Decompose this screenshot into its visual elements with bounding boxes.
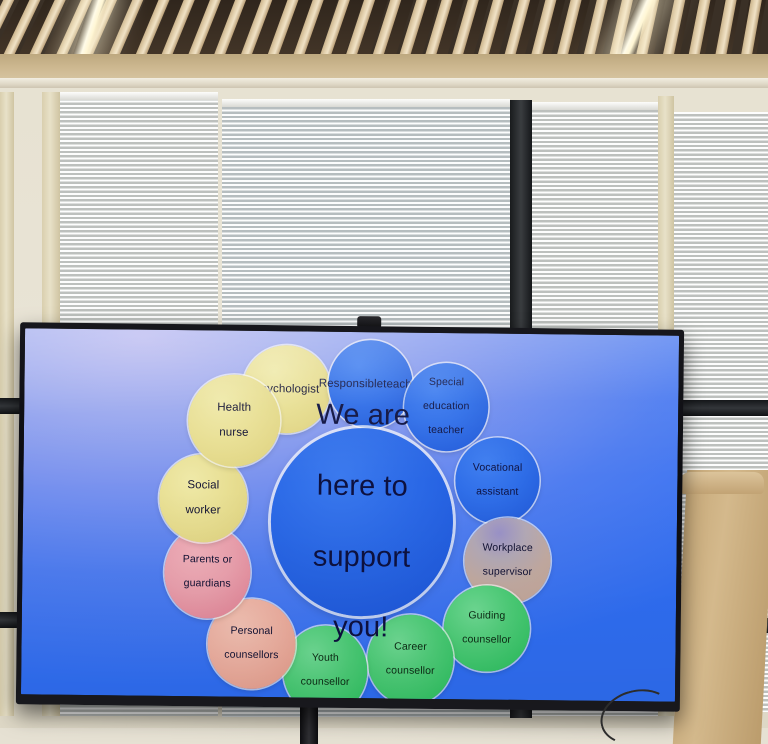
blind-headrail-right (532, 102, 662, 110)
bubble-label-line1: Workplace (482, 543, 532, 555)
bubble-guiding-counsellor[interactable]: Guiding counsellor (443, 585, 530, 672)
blind-headrail-left (58, 92, 218, 100)
bubble-label-line2: counsellor (301, 676, 350, 688)
bubble-label-line1: Parents or (183, 554, 233, 566)
bubble-label-line1: Health (217, 401, 251, 414)
center-line-4: you! (312, 610, 410, 646)
blind-headrail-center (222, 99, 510, 107)
bubble-label-line1: Personal (225, 626, 279, 638)
bubble-social-worker[interactable]: Social worker (159, 454, 248, 543)
room-photo: Psychologist Responsible teacher Special… (0, 0, 768, 744)
bubble-label-line2: supervisor (482, 566, 532, 578)
bubble-label-line1: Guiding (462, 610, 511, 622)
bubble-label-line1: Social (186, 479, 221, 492)
bubble-label-line2: nurse (217, 427, 251, 440)
bubble-label-line1: Vocational (473, 463, 523, 475)
bubble-special-education-teacher[interactable]: Special education teacher (404, 363, 489, 452)
presentation-slide: Psychologist Responsible teacher Special… (21, 328, 679, 701)
center-line-2: here to (313, 469, 411, 505)
bubble-label-line3: teacher (423, 425, 470, 437)
bubble-center-message[interactable]: We are here to support you! (270, 427, 454, 617)
center-line-1: We are (314, 398, 412, 434)
bubble-label-line2: counsellor (462, 634, 511, 646)
flipchart-top-rail (680, 472, 764, 494)
bubble-label-line2: assistant (472, 486, 522, 498)
bubble-label-line1: Youth (301, 653, 350, 665)
bubble-vocational-assistant[interactable]: Vocational assistant (455, 437, 540, 524)
bubble-label-line1: Responsible (319, 377, 384, 391)
bubble-label-line2: counsellor (386, 665, 435, 677)
bubble-label-line1: Special (423, 377, 470, 389)
center-line-3: support (313, 539, 411, 575)
tv-screen[interactable]: Psychologist Responsible teacher Special… (21, 328, 679, 701)
bubble-label-line2: guardians (182, 578, 232, 590)
flipchart-board (673, 470, 768, 744)
flat-screen-tv[interactable]: Psychologist Responsible teacher Special… (16, 322, 684, 712)
bubble-health-nurse[interactable]: Health nurse (188, 374, 281, 467)
bubble-label-line2: worker (185, 505, 220, 518)
bubble-label-line2: counsellors (224, 650, 278, 662)
bubble-label-line2: education (423, 401, 470, 413)
